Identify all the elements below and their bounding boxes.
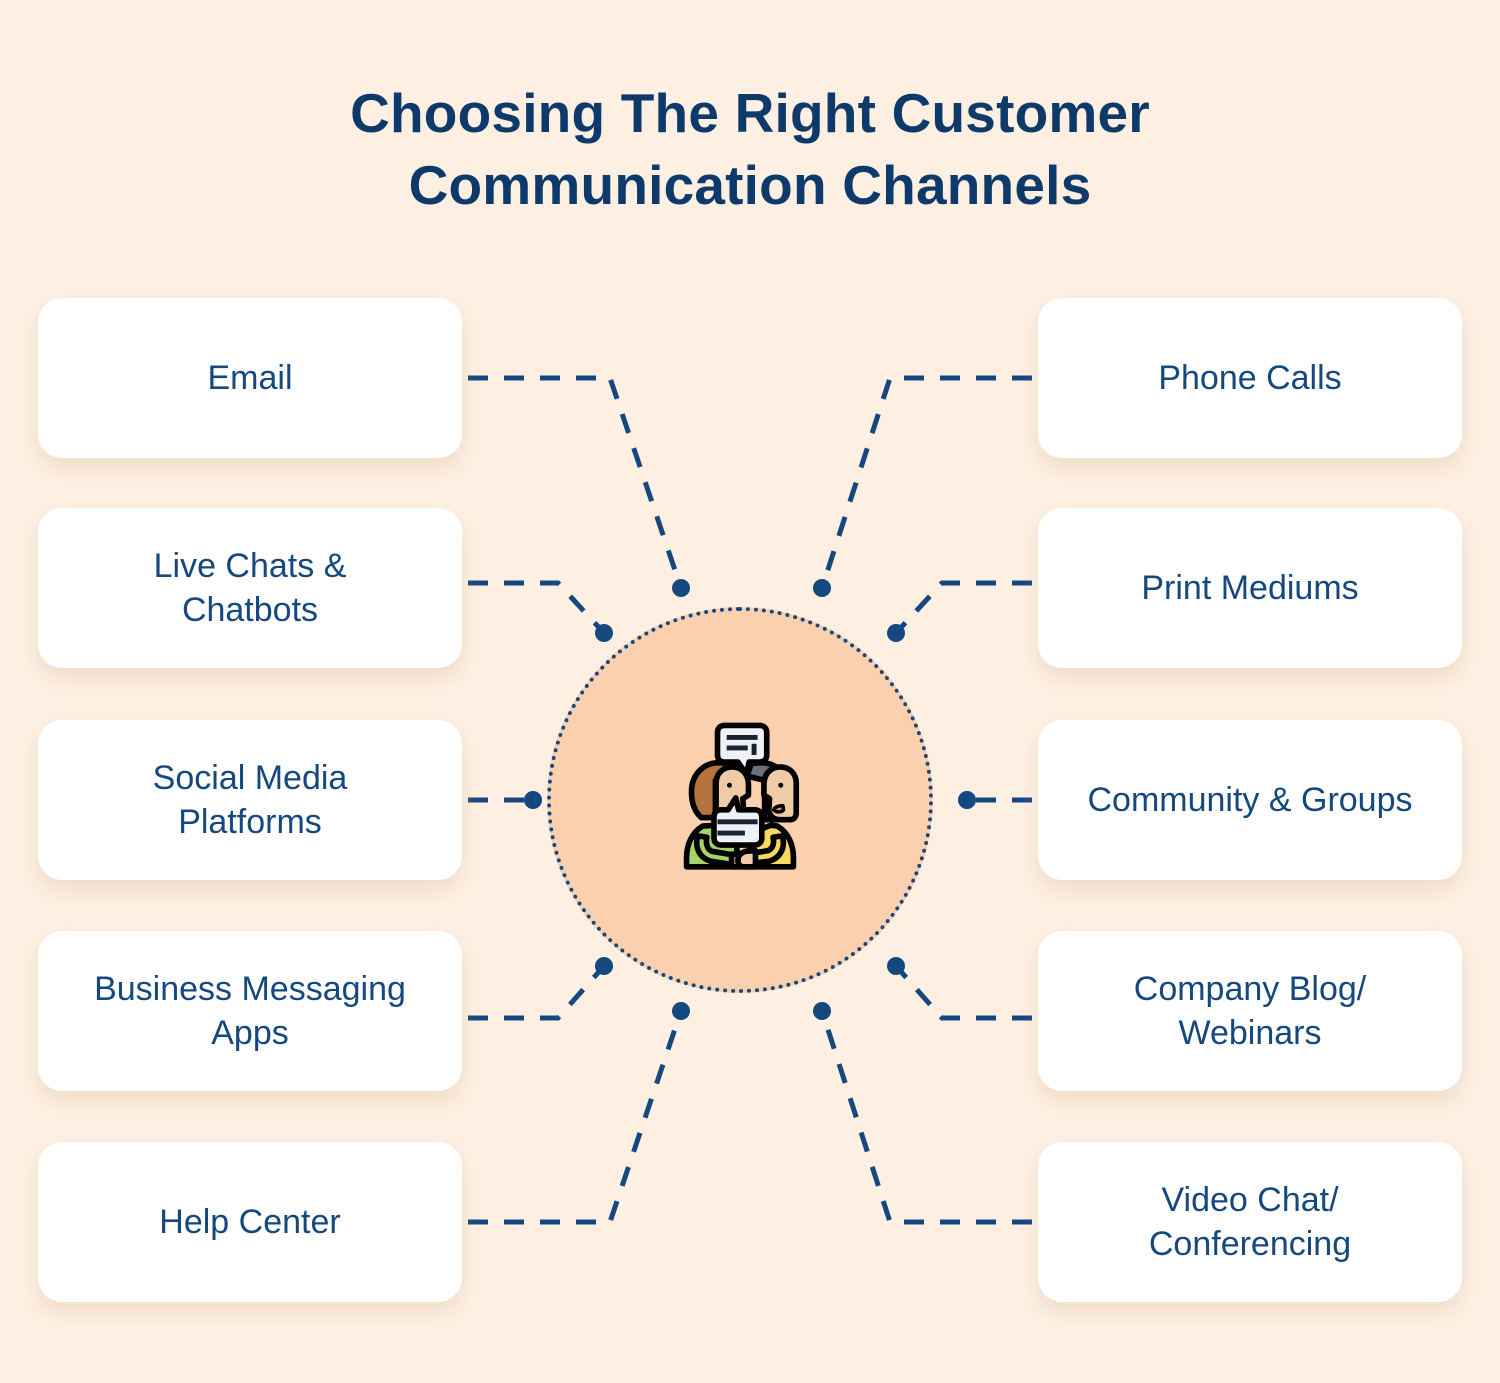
channel-card-label: Email (207, 356, 292, 400)
connector-dot-right-1 (813, 579, 831, 597)
channel-card-label: Business Messaging Apps (94, 967, 406, 1055)
page-title: Choosing The Right Customer Communicatio… (0, 78, 1500, 221)
connector-dot-left-5 (672, 1002, 690, 1020)
center-hub-circle (547, 607, 933, 993)
two-people-conversation-icon (650, 710, 830, 890)
page-title-line-1: Choosing The Right Customer (180, 78, 1320, 150)
channel-card-label: Print Mediums (1141, 566, 1358, 610)
channel-card-label: Help Center (159, 1200, 340, 1244)
channel-card-email[interactable]: Email (38, 298, 462, 458)
connector-right-5 (822, 1011, 1032, 1222)
channel-card-label: Live Chats & Chatbots (154, 544, 347, 632)
connector-dot-left-1 (672, 579, 690, 597)
connector-dot-right-4 (887, 957, 905, 975)
channel-card-live-chats-chatbots[interactable]: Live Chats & Chatbots (38, 508, 462, 668)
channel-card-label: Phone Calls (1158, 356, 1341, 400)
channel-card-help-center[interactable]: Help Center (38, 1142, 462, 1302)
channel-card-video-chat-conferencing[interactable]: Video Chat/ Conferencing (1038, 1142, 1462, 1302)
channel-card-social-media-platforms[interactable]: Social Media Platforms (38, 720, 462, 880)
connector-dot-right-2 (887, 624, 905, 642)
channel-card-community-groups[interactable]: Community & Groups (1038, 720, 1462, 880)
connector-dot-left-3 (524, 791, 542, 809)
connector-left-1 (468, 378, 681, 588)
page-title-line-2: Communication Channels (180, 150, 1320, 222)
connector-dot-left-2 (595, 624, 613, 642)
channel-card-company-blog-webinars[interactable]: Company Blog/ Webinars (1038, 931, 1462, 1091)
channel-card-print-mediums[interactable]: Print Mediums (1038, 508, 1462, 668)
connector-left-2 (468, 583, 604, 633)
infographic-root: Choosing The Right Customer Communicatio… (0, 0, 1500, 1383)
connector-right-4 (896, 966, 1032, 1018)
connector-left-4 (468, 966, 604, 1018)
connector-right-1 (822, 378, 1032, 588)
connector-left-5 (468, 1011, 681, 1222)
connector-right-2 (896, 583, 1032, 633)
channel-card-phone-calls[interactable]: Phone Calls (1038, 298, 1462, 458)
channel-card-label: Social Media Platforms (153, 756, 348, 844)
connector-dot-right-5 (813, 1002, 831, 1020)
channel-card-label: Company Blog/ Webinars (1134, 967, 1366, 1055)
channel-card-label: Community & Groups (1088, 778, 1413, 822)
connector-dot-left-4 (595, 957, 613, 975)
channel-card-label: Video Chat/ Conferencing (1149, 1178, 1351, 1266)
connector-dot-right-3 (958, 791, 976, 809)
channel-card-business-messaging-apps[interactable]: Business Messaging Apps (38, 931, 462, 1091)
